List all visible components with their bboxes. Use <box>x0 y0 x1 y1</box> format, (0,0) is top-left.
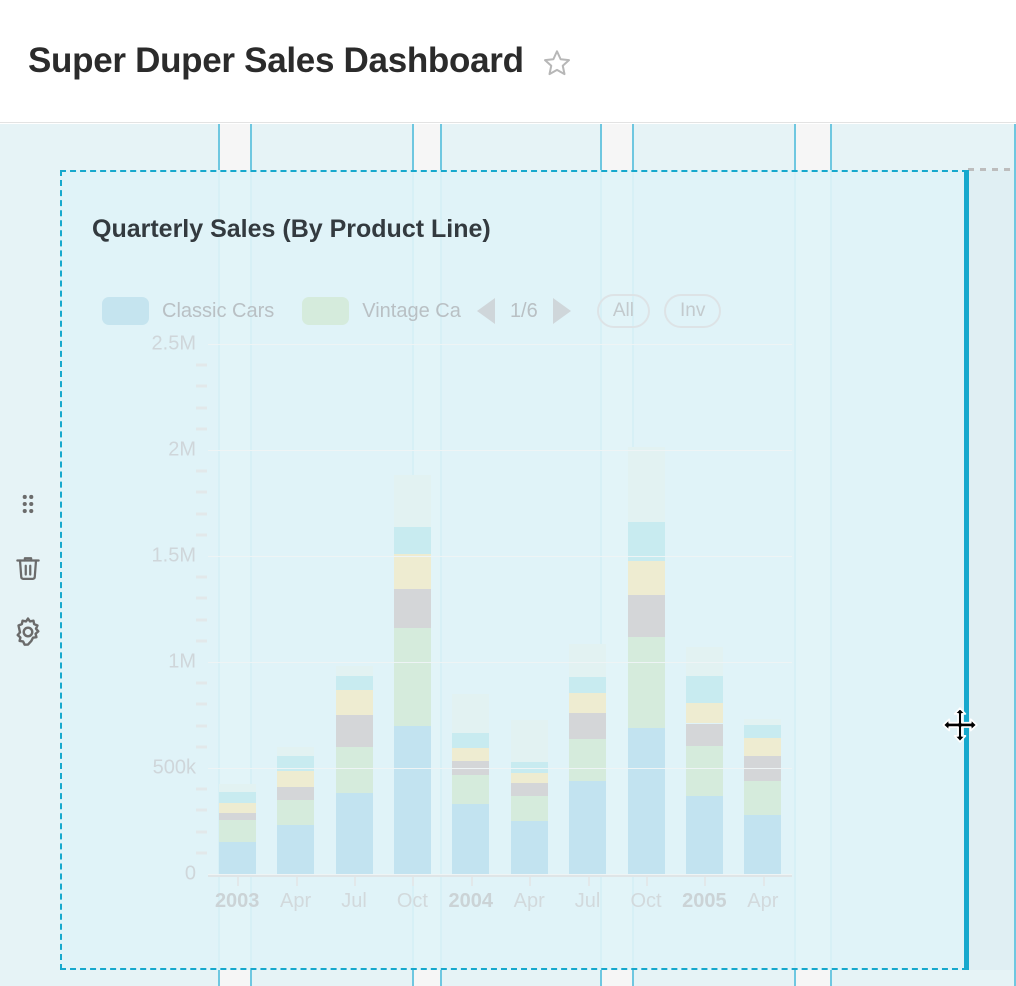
bar-segment[interactable] <box>511 783 548 796</box>
bar-segment[interactable] <box>219 792 256 803</box>
bar-segment[interactable] <box>394 726 431 874</box>
y-axis-tick-label: 1M <box>168 651 196 674</box>
y-axis-minor-tick <box>196 512 207 515</box>
y-axis-tick-label: 0 <box>185 863 196 886</box>
x-axis-tick <box>704 877 706 886</box>
bar-segment[interactable] <box>686 676 723 704</box>
bar-segment[interactable] <box>686 724 723 746</box>
bar-segment[interactable] <box>628 447 665 522</box>
x-axis-tick-label: Apr <box>280 890 311 913</box>
bar-segment[interactable] <box>452 748 489 761</box>
bar-stack[interactable] <box>219 784 256 874</box>
y-axis-minor-tick <box>196 788 207 791</box>
bar-segment[interactable] <box>277 800 314 825</box>
drag-handle-icon[interactable] <box>8 484 48 524</box>
bar-segment[interactable] <box>744 815 781 874</box>
bar-segment[interactable] <box>452 694 489 733</box>
y-axis-minor-tick <box>196 724 207 727</box>
bar-segment[interactable] <box>394 527 431 554</box>
x-axis-tick <box>296 877 298 886</box>
bar-segment[interactable] <box>569 644 606 677</box>
y-axis-minor-tick <box>196 406 207 409</box>
bar-segment[interactable] <box>744 719 781 724</box>
trash-icon[interactable] <box>8 548 48 588</box>
gridline <box>208 874 792 875</box>
x-axis-tick <box>412 877 414 886</box>
bar-segment[interactable] <box>569 713 606 740</box>
y-axis-minor-tick <box>196 809 207 812</box>
x-axis-tick-label: Jul <box>575 890 601 913</box>
y-axis-minor-tick <box>196 533 207 536</box>
bar-stack[interactable] <box>277 747 314 874</box>
bar-segment[interactable] <box>511 720 548 761</box>
dashboard-card-quarterly-sales[interactable]: Quarterly Sales (By Product Line) Classi… <box>60 170 968 970</box>
x-axis-tick <box>471 877 473 886</box>
bar-segment[interactable] <box>744 781 781 815</box>
bar-segment[interactable] <box>219 813 256 820</box>
card-resize-handle[interactable] <box>964 170 969 970</box>
bar-segment[interactable] <box>219 820 256 842</box>
x-axis-tick-label: Jul <box>341 890 367 913</box>
bar-segment[interactable] <box>569 693 606 713</box>
bar-segment[interactable] <box>452 804 489 874</box>
triangle-right-icon[interactable] <box>553 298 571 324</box>
y-axis-tick-label: 500k <box>153 757 196 780</box>
bar-segment[interactable] <box>277 825 314 874</box>
page-header: Super Duper Sales Dashboard <box>0 0 1016 123</box>
bar-segment[interactable] <box>569 677 606 693</box>
y-axis-tick-label: 1.5M <box>152 545 196 568</box>
x-axis-tick <box>588 877 590 886</box>
x-axis-tick-label: Apr <box>747 890 778 913</box>
bar-segment[interactable] <box>336 676 373 690</box>
bar-segment[interactable] <box>628 728 665 874</box>
bar-segment[interactable] <box>452 775 489 804</box>
bar-stack[interactable] <box>628 447 665 874</box>
y-axis-tick-label: 2M <box>168 439 196 462</box>
card-drop-preview <box>968 170 1016 970</box>
x-axis-tick-label: Oct <box>397 890 428 913</box>
bar-segment[interactable] <box>336 690 373 715</box>
y-axis-minor-tick <box>196 364 207 367</box>
legend-label: Vintage Ca <box>362 300 461 323</box>
bar-segment[interactable] <box>394 475 431 527</box>
card-drop-preview-edge <box>968 168 1016 171</box>
bar-segment[interactable] <box>452 733 489 748</box>
y-axis-minor-tick <box>196 597 207 600</box>
x-axis-tick <box>763 877 765 886</box>
x-axis-tick <box>529 877 531 886</box>
bar-segment[interactable] <box>336 715 373 747</box>
gear-icon[interactable] <box>8 612 48 652</box>
y-axis-minor-tick <box>196 618 207 621</box>
bar-stack[interactable] <box>394 475 431 874</box>
bar-segment[interactable] <box>569 739 606 780</box>
x-axis-tick-label: Apr <box>514 890 545 913</box>
bar-segment[interactable] <box>336 666 373 676</box>
gridline <box>208 450 792 451</box>
y-axis-minor-tick <box>196 745 207 748</box>
bar-segment[interactable] <box>219 803 256 813</box>
x-axis-tick-label: 2003 <box>215 890 260 913</box>
bar-segment[interactable] <box>686 703 723 723</box>
y-axis-minor-tick <box>196 703 207 706</box>
bar-segment[interactable] <box>336 747 373 794</box>
bar-stack[interactable] <box>336 666 373 874</box>
bar-segment[interactable] <box>628 561 665 595</box>
star-icon[interactable] <box>542 48 572 78</box>
bar-stack[interactable] <box>744 719 781 874</box>
plot-area <box>208 344 792 874</box>
legend-invert-button[interactable]: Inv <box>664 294 721 328</box>
y-axis-minor-tick <box>196 491 207 494</box>
bar-segment[interactable] <box>569 781 606 874</box>
legend-item-classic-cars[interactable]: Classic Cars <box>102 297 274 325</box>
y-axis-tick-label: 2.5M <box>152 333 196 356</box>
bar-segment[interactable] <box>394 554 431 589</box>
gridline <box>208 556 792 557</box>
bar-segment[interactable] <box>744 725 781 739</box>
bar-segment[interactable] <box>394 628 431 726</box>
card-title: Quarterly Sales (By Product Line) <box>92 215 491 244</box>
chart-legend: Classic Cars Vintage Ca 1/6 All Inv <box>102 294 735 328</box>
gridline <box>208 768 792 769</box>
legend-swatch <box>102 297 149 325</box>
bar-stack[interactable] <box>569 644 606 874</box>
y-axis-minor-tick <box>196 470 207 473</box>
legend-pagination: 1/6 <box>477 298 571 324</box>
bar-segment[interactable] <box>219 784 256 792</box>
x-axis-tick <box>237 877 239 886</box>
legend-all-button[interactable]: All <box>597 294 650 328</box>
gridline <box>208 662 792 663</box>
chart-plot: 0500k1M1.5M2M2.5M 2003AprJulOct2004AprJu… <box>92 344 792 904</box>
bar-stack[interactable] <box>511 720 548 874</box>
gridline <box>208 344 792 345</box>
bar-segment[interactable] <box>277 747 314 757</box>
y-axis: 0500k1M1.5M2M2.5M <box>92 344 204 874</box>
legend-item-vintage-cars[interactable]: Vintage Ca <box>302 297 461 325</box>
legend-page-count: 1/6 <box>507 300 541 323</box>
dashboard-root: Super Duper Sales Dashboard Quarterly Sa… <box>0 0 1016 986</box>
bar-segment[interactable] <box>686 746 723 796</box>
y-axis-minor-tick <box>196 385 207 388</box>
y-axis-minor-tick <box>196 830 207 833</box>
bar-segment[interactable] <box>394 589 431 628</box>
bar-segment[interactable] <box>277 771 314 787</box>
x-axis-tick <box>354 877 356 886</box>
y-axis-minor-tick <box>196 576 207 579</box>
bar-segment[interactable] <box>219 842 256 874</box>
bar-segment[interactable] <box>511 773 548 783</box>
bar-segment[interactable] <box>277 787 314 800</box>
legend-label: Classic Cars <box>162 300 274 323</box>
x-axis-tick-label: 2004 <box>449 890 494 913</box>
x-axis-tick-label: 2005 <box>682 890 727 913</box>
page-title: Super Duper Sales Dashboard <box>28 41 524 81</box>
y-axis-minor-tick <box>196 682 207 685</box>
bar-stack[interactable] <box>686 647 723 874</box>
dashboard-canvas: Quarterly Sales (By Product Line) Classi… <box>0 124 1016 986</box>
card-toolbar <box>8 484 48 676</box>
bar-segment[interactable] <box>744 738 781 756</box>
bar-segment[interactable] <box>686 796 723 874</box>
bar-segment[interactable] <box>511 821 548 874</box>
bar-segment[interactable] <box>628 637 665 728</box>
y-axis-minor-tick <box>196 639 207 642</box>
bar-segment[interactable] <box>511 796 548 821</box>
x-axis-tick <box>646 877 648 886</box>
x-axis-tick-label: Oct <box>630 890 661 913</box>
y-axis-minor-tick <box>196 851 207 854</box>
y-axis-minor-tick <box>196 427 207 430</box>
bar-stack[interactable] <box>452 694 489 874</box>
bar-segment[interactable] <box>336 793 373 874</box>
bar-segment[interactable] <box>628 595 665 636</box>
triangle-left-icon[interactable] <box>477 298 495 324</box>
legend-swatch <box>302 297 349 325</box>
